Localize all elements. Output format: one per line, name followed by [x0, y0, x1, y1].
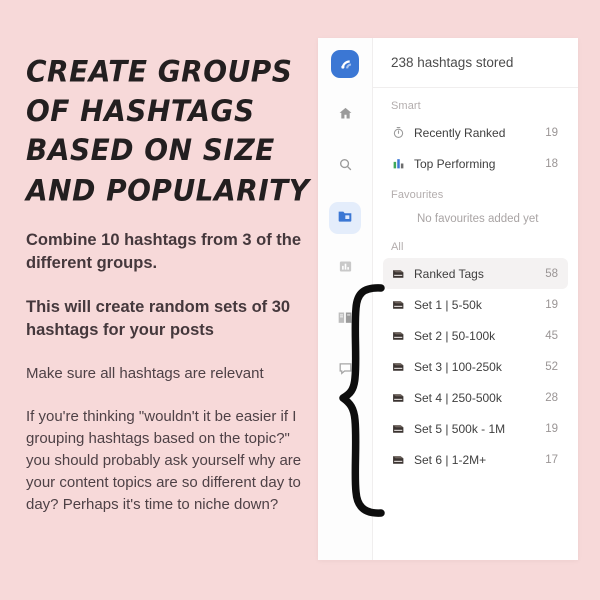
list-item-count: 58: [545, 268, 558, 280]
tag-stack-icon: [391, 361, 406, 373]
tag-stack-icon: [391, 423, 406, 435]
tag-stack-icon: [391, 454, 406, 466]
sidebar-item-analytics[interactable]: [329, 253, 361, 285]
folder-list-panel: 238 hashtags stored Smart Recently Ranke…: [373, 38, 578, 560]
list-item-ranked-tags[interactable]: Ranked Tags 58: [383, 258, 568, 289]
list-item-count: 19: [545, 299, 558, 311]
book-icon: [337, 310, 353, 330]
list-item-label: Set 6 | 1-2M+: [414, 453, 545, 467]
tag-stack-icon: [391, 330, 406, 342]
list-item-count: 19: [545, 423, 558, 435]
home-icon: [338, 106, 353, 126]
list-item-count: 17: [545, 454, 558, 466]
list-item-label: Set 3 | 100-250k: [414, 360, 545, 374]
sidebar-item-home[interactable]: [329, 100, 361, 132]
app-window: 238 hashtags stored Smart Recently Ranke…: [318, 38, 578, 560]
list-item-label: Top Performing: [414, 157, 545, 171]
folder-list: Smart Recently Ranked 19: [373, 88, 578, 560]
section-label-favourites: Favourites: [383, 179, 568, 206]
section-label-all: All: [383, 232, 568, 258]
list-item-set-2[interactable]: Set 2 | 50-100k 45: [383, 320, 568, 351]
icon-rail: [318, 38, 373, 560]
sidebar-item-messages[interactable]: [329, 355, 361, 387]
list-item-label: Recently Ranked: [414, 126, 545, 140]
list-item-set-6[interactable]: Set 6 | 1-2M+ 17: [383, 444, 568, 475]
tag-stack-icon: [391, 268, 406, 280]
list-item-count: 45: [545, 330, 558, 342]
sidebar-item-search[interactable]: [329, 151, 361, 183]
paragraph-random-sets: This will create random sets of 30 hasht…: [26, 296, 306, 342]
bar-chart-icon: [338, 259, 353, 279]
tag-stack-icon: [391, 392, 406, 404]
list-item-count: 19: [545, 127, 558, 139]
list-item-label: Set 2 | 50-100k: [414, 329, 545, 343]
sidebar-item-folders[interactable]: [329, 202, 361, 234]
headline-line-3: based on size: [26, 131, 306, 170]
headline: Create Groups of Hashtags based on size …: [26, 52, 306, 210]
rss-signal-icon[interactable]: [331, 50, 359, 78]
chat-icon: [338, 361, 353, 381]
tag-stack-icon: [391, 299, 406, 311]
list-item-set-4[interactable]: Set 4 | 250-500k 28: [383, 382, 568, 413]
headline-line-1: Create Groups: [26, 52, 306, 91]
list-item-set-5[interactable]: Set 5 | 500k - 1M 19: [383, 413, 568, 444]
list-item-label: Set 5 | 500k - 1M: [414, 422, 545, 436]
list-item-label: Ranked Tags: [414, 267, 545, 281]
folder-icon: [337, 208, 353, 229]
list-item-count: 28: [545, 392, 558, 404]
headline-line-2: of Hashtags: [26, 91, 306, 130]
stopwatch-icon: [391, 126, 406, 139]
paragraph-relevant: Make sure all hashtags are relevant: [26, 364, 306, 385]
list-item-set-1[interactable]: Set 1 | 5-50k 19: [383, 289, 568, 320]
panel-header: 238 hashtags stored: [373, 38, 578, 88]
paragraph-combine: Combine 10 hashtags from 3 of the differ…: [26, 229, 306, 275]
list-item-recently-ranked[interactable]: Recently Ranked 19: [383, 117, 568, 148]
color-bar-chart-icon: [391, 157, 406, 170]
sidebar-item-guides[interactable]: [329, 304, 361, 336]
list-item-top-performing[interactable]: Top Performing 18: [383, 148, 568, 179]
search-icon: [338, 157, 353, 177]
list-item-label: Set 4 | 250-500k: [414, 391, 545, 405]
paragraph-niche-down: If you're thinking "wouldn't it be easie…: [26, 406, 306, 516]
marketing-copy-column: Create Groups of Hashtags based on size …: [26, 52, 306, 516]
page-title: 238 hashtags stored: [391, 55, 513, 70]
list-item-set-3[interactable]: Set 3 | 100-250k 52: [383, 351, 568, 382]
list-item-count: 52: [545, 361, 558, 373]
favourites-empty-message: No favourites added yet: [383, 206, 568, 232]
list-item-count: 18: [545, 158, 558, 170]
list-item-label: Set 1 | 5-50k: [414, 298, 545, 312]
section-label-smart: Smart: [383, 100, 568, 117]
headline-line-4: and popularity: [26, 170, 306, 209]
